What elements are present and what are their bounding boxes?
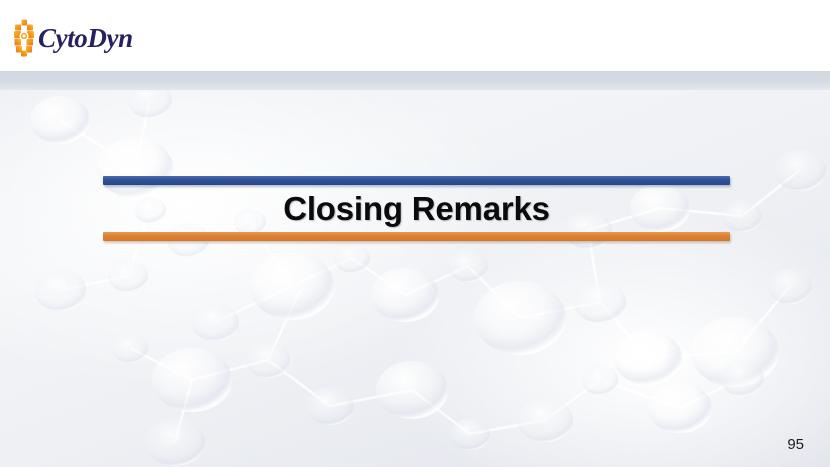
slide-background: [0, 90, 830, 467]
page-number: 95: [787, 436, 804, 453]
title-rule-bottom: [103, 232, 730, 241]
slide-title-block: Closing Remarks: [103, 176, 730, 242]
brand-logo[interactable]: CytoDyn: [12, 19, 133, 57]
title-rule-top: [103, 176, 730, 185]
molecular-watermark-pattern: [0, 90, 830, 467]
page-title: Closing Remarks: [103, 185, 730, 232]
header-separator: [0, 71, 830, 90]
brand-wordmark: CytoDyn: [38, 25, 133, 52]
cytodyn-molecule-logo-icon: [12, 19, 36, 57]
presentation-slide: Closing Remarks: [0, 0, 830, 467]
